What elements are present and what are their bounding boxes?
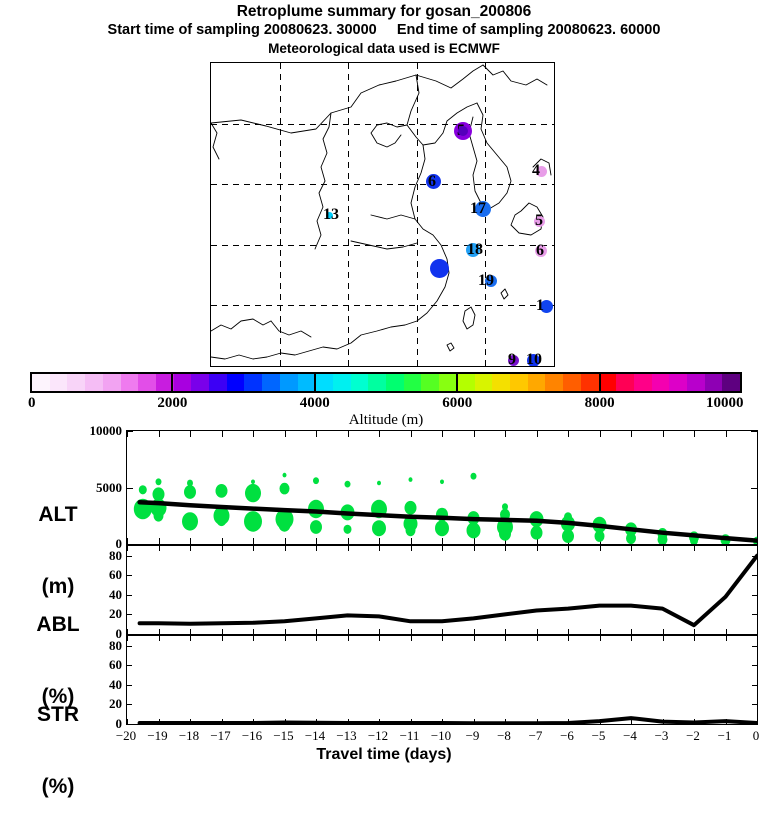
colorbar-swatch — [386, 374, 404, 391]
xtick-label: −2 — [676, 728, 710, 744]
colorbar-swatch — [121, 374, 139, 391]
map-marker-label: 5 — [535, 213, 543, 229]
map-marker-label: 10 — [526, 352, 542, 367]
colorbar-swatch — [209, 374, 227, 391]
colorbar-swatch — [705, 374, 723, 391]
alt-chart[interactable] — [126, 430, 758, 545]
map-marker-label: 6 — [428, 174, 436, 190]
altitude-colorbar[interactable]: 0200040006000800010000 Altitude (m) — [30, 372, 742, 393]
map-marker-label: 13 — [323, 207, 339, 223]
colorbar-swatch — [333, 374, 351, 391]
colorbar-tick-label: 2000 — [157, 395, 187, 412]
str-ytick-label: 20 — [78, 696, 122, 712]
xtick-label: −5 — [582, 728, 616, 744]
xtick-label: −9 — [456, 728, 490, 744]
colorbar-ticks: 0200040006000800010000 — [30, 395, 742, 413]
abl-plot-area — [127, 546, 757, 634]
xtick-label: −1 — [708, 728, 742, 744]
map-marker-dot[interactable] — [430, 259, 449, 278]
colorbar-swatch — [492, 374, 510, 391]
colorbar-swatch — [634, 374, 652, 391]
xtick-label: −6 — [550, 728, 584, 744]
colorbar-tick-label: 10000 — [706, 395, 744, 412]
colorbar-separator — [456, 372, 458, 393]
xtick-label: −15 — [267, 728, 301, 744]
abl-ytick-label: 80 — [78, 548, 122, 564]
abl-ytick-label: 40 — [78, 587, 122, 603]
str-ytick-label: 40 — [78, 677, 122, 693]
xtick-label: −14 — [298, 728, 332, 744]
str-ytick-label: 60 — [78, 657, 122, 673]
xtick-label: −8 — [487, 728, 521, 744]
colorbar-swatch — [404, 374, 422, 391]
xtick-label: −10 — [424, 728, 458, 744]
colorbar-swatch — [351, 374, 369, 391]
abl-ytick-label: 20 — [78, 606, 122, 622]
retroplume-map[interactable]: 56417513186191910 — [210, 62, 555, 367]
map-marker-label: 6 — [536, 243, 544, 259]
alt-ytick-label: 5000 — [60, 480, 122, 496]
colorbar-swatch — [563, 374, 581, 391]
colorbar-swatch — [315, 374, 333, 391]
map-marker-label: 4 — [532, 163, 540, 179]
abl-chart[interactable] — [126, 545, 758, 635]
colorbar-separator — [171, 372, 173, 393]
xtick-label: −20 — [109, 728, 143, 744]
colorbar-swatch — [32, 374, 50, 391]
colorbar-title: Altitude (m) — [30, 412, 742, 429]
alt-ytick-label: 10000 — [60, 423, 122, 439]
xtick-label: −17 — [204, 728, 238, 744]
map-marker-label: 18 — [467, 242, 483, 258]
xtick-label: −19 — [141, 728, 175, 744]
map-marker-dot[interactable] — [458, 126, 468, 136]
str-chart[interactable] — [126, 635, 758, 725]
colorbar-swatch — [616, 374, 634, 391]
page-title: Retroplume summary for gosan_200806 — [0, 0, 768, 21]
colorbar-tick-label: 8000 — [585, 395, 615, 412]
xtick-label: −11 — [393, 728, 427, 744]
xtick-label: −4 — [613, 728, 647, 744]
abl-ytick-label: 60 — [78, 567, 122, 583]
colorbar-swatch — [421, 374, 439, 391]
str-label-line2: (%) — [8, 775, 108, 799]
title-block: Retroplume summary for gosan_200806 Star… — [0, 0, 768, 57]
colorbar-gradient[interactable] — [30, 372, 742, 393]
xtick-label: −18 — [172, 728, 206, 744]
xtick-label: −3 — [645, 728, 679, 744]
alt-plot-area — [127, 431, 757, 544]
colorbar-swatch — [545, 374, 563, 391]
str-ytick-label: 80 — [78, 638, 122, 654]
colorbar-swatch — [227, 374, 245, 391]
colorbar-tick-label: 4000 — [300, 395, 330, 412]
colorbar-swatch — [510, 374, 528, 391]
colorbar-swatch — [298, 374, 316, 391]
colorbar-tick-label: 6000 — [442, 395, 472, 412]
map-marker-label: 17 — [470, 201, 486, 217]
xaxis-title: Travel time (days) — [0, 746, 768, 764]
xtick-label: −12 — [361, 728, 395, 744]
colorbar-swatch — [103, 374, 121, 391]
colorbar-swatch — [191, 374, 209, 391]
colorbar-swatch — [262, 374, 280, 391]
colorbar-swatch — [244, 374, 262, 391]
colorbar-swatch — [174, 374, 192, 391]
colorbar-swatch — [722, 374, 740, 391]
map-marker-label: 1 — [536, 298, 544, 314]
xtick-label: −13 — [330, 728, 364, 744]
map-coastlines — [211, 63, 554, 366]
colorbar-swatch — [280, 374, 298, 391]
colorbar-swatch — [581, 374, 599, 391]
colorbar-swatch — [599, 374, 617, 391]
colorbar-separator — [314, 372, 316, 393]
colorbar-swatch — [457, 374, 475, 391]
colorbar-swatch — [475, 374, 493, 391]
colorbar-swatch — [652, 374, 670, 391]
colorbar-swatch — [368, 374, 386, 391]
xtick-label: 0 — [739, 728, 768, 744]
map-marker-label: 19 — [478, 273, 494, 289]
meteorological-data-line: Meteorological data used is ECMWF — [0, 40, 768, 57]
alt-label-line1: ALT — [8, 503, 108, 527]
colorbar-swatch — [67, 374, 85, 391]
map-marker-label: 9 — [508, 352, 516, 367]
colorbar-swatch — [528, 374, 546, 391]
colorbar-swatch — [669, 374, 687, 391]
colorbar-swatch — [439, 374, 457, 391]
colorbar-tick-label: 0 — [28, 395, 36, 412]
str-plot-area — [127, 636, 757, 724]
colorbar-swatch — [138, 374, 156, 391]
xtick-label: −7 — [519, 728, 553, 744]
colorbar-swatch — [85, 374, 103, 391]
colorbar-swatch — [50, 374, 68, 391]
sampling-time-line: Start time of sampling 20080623. 30000 E… — [0, 21, 768, 40]
colorbar-swatch — [687, 374, 705, 391]
colorbar-separator — [599, 372, 601, 393]
xtick-label: −16 — [235, 728, 269, 744]
